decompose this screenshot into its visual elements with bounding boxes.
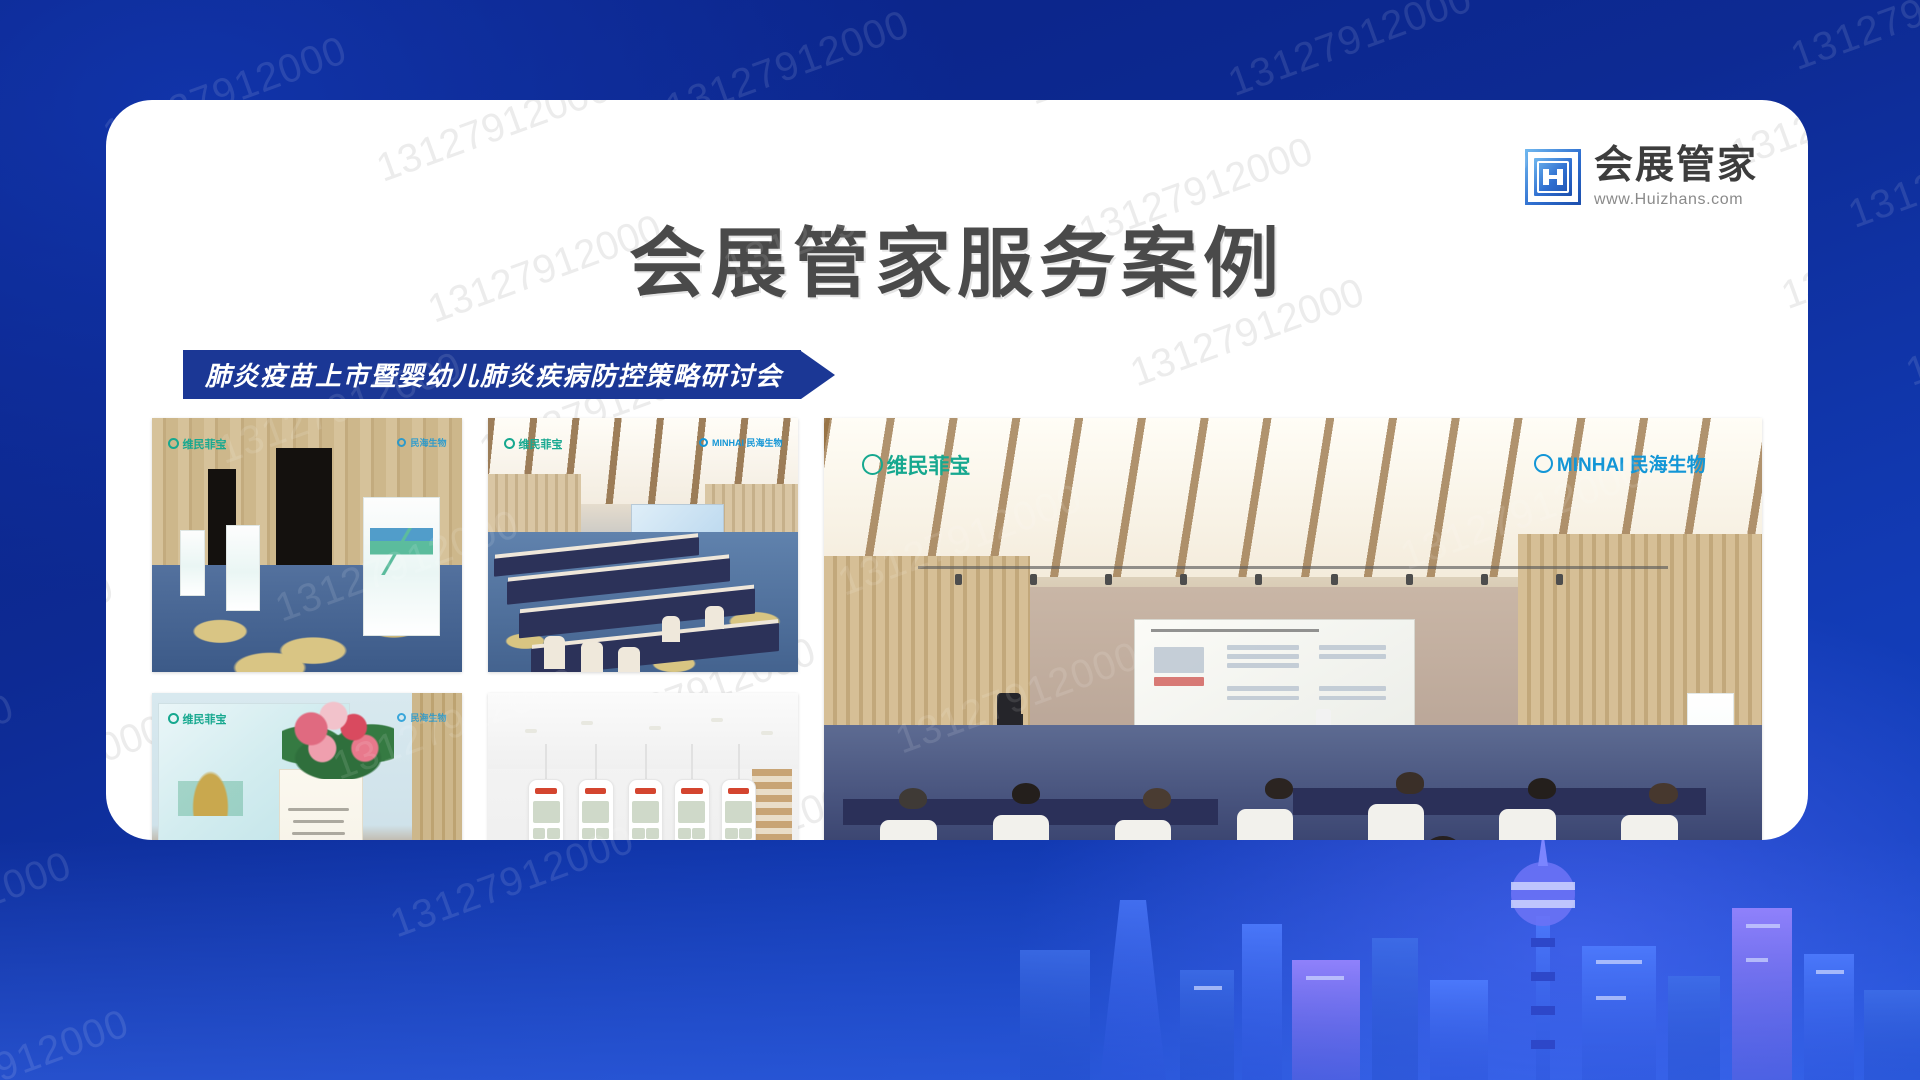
chair bbox=[705, 606, 724, 629]
event-banner-body: 肺炎疫苗上市暨婴幼儿肺炎疾病防控策略研讨会 bbox=[183, 350, 801, 399]
board-title bbox=[728, 788, 750, 794]
event-banner: 肺炎疫苗上市暨婴幼儿肺炎疾病防控策略研讨会 bbox=[183, 350, 835, 399]
overlay-logo-weiminfeibao: 维民菲宝 bbox=[862, 450, 971, 480]
event-banner-label: 肺炎疫苗上市暨婴幼儿肺炎疾病防控策略研讨会 bbox=[205, 356, 783, 393]
photo-conference-session[interactable]: 维民菲宝 MINHAI 民海生物 bbox=[824, 418, 1762, 840]
board-image bbox=[533, 801, 560, 823]
overlay-logo-text: 维民菲宝 bbox=[183, 711, 227, 727]
spotlight-icon bbox=[1030, 574, 1037, 585]
board-title bbox=[635, 788, 657, 794]
logo-dot-icon bbox=[862, 454, 883, 475]
audience-chair bbox=[1368, 804, 1424, 840]
spotlight-icon bbox=[1556, 574, 1563, 585]
slide-table-row bbox=[1227, 663, 1300, 668]
ceiling-light-icon bbox=[711, 718, 723, 722]
logo-dot-icon bbox=[168, 438, 179, 449]
slide-table-row bbox=[1319, 696, 1386, 701]
logo-dot-icon bbox=[699, 438, 708, 447]
slide-table-row bbox=[1227, 645, 1300, 650]
audience-person bbox=[1143, 788, 1171, 809]
spotlight-icon bbox=[1406, 574, 1413, 585]
standee-text-line bbox=[288, 808, 348, 811]
logo-dot-icon bbox=[397, 438, 406, 447]
overlay-logo-weiminfeibao: 维民菲宝 bbox=[168, 436, 227, 452]
logo-dot-icon bbox=[397, 713, 406, 722]
spotlight-icon bbox=[955, 574, 962, 585]
projection-screen bbox=[1134, 619, 1415, 735]
slide-image bbox=[1154, 677, 1204, 686]
slide-table-row bbox=[1319, 645, 1386, 650]
ceiling-light-icon bbox=[525, 729, 537, 733]
board-image bbox=[692, 828, 705, 840]
board-title bbox=[535, 788, 557, 794]
huizhans-logo-mark-icon bbox=[1525, 149, 1581, 205]
skyline-svg bbox=[1020, 820, 1920, 1080]
audience-person bbox=[1265, 778, 1293, 799]
overlay-logo-weiminfeibao: 维民菲宝 bbox=[504, 436, 563, 452]
audience-chair bbox=[1499, 809, 1555, 840]
standee-text-line bbox=[292, 832, 346, 835]
audience-person bbox=[1012, 783, 1040, 804]
audience-chair bbox=[880, 820, 936, 840]
overlay-logo-minhai: MINHAI 民海生物 bbox=[699, 436, 783, 449]
overlay-logo-text: 维民菲宝 bbox=[887, 450, 971, 480]
rollup-banner bbox=[226, 525, 260, 611]
slide-table-row bbox=[1227, 696, 1300, 701]
board-image bbox=[582, 801, 609, 823]
overlay-logo-text: MINHAI 民海生物 bbox=[1557, 450, 1706, 477]
overlay-logo-minhai: MINHAI 民海生物 bbox=[1534, 450, 1706, 477]
rollup-banner-main bbox=[363, 497, 441, 637]
content-card: 1312791200013127912000131279120001312791… bbox=[106, 100, 1808, 840]
chair bbox=[662, 616, 681, 641]
brand-name: 会展管家 bbox=[1594, 146, 1758, 185]
rollup-banner bbox=[180, 530, 205, 596]
exhibit-board bbox=[628, 779, 664, 840]
board-image bbox=[582, 828, 595, 840]
brand-logo[interactable]: 会展管家 www.Huizhans.com bbox=[1525, 146, 1758, 208]
overlay-logo-text: 民海生物 bbox=[410, 711, 446, 724]
logo-dot-icon bbox=[504, 438, 515, 449]
board-image bbox=[725, 801, 752, 823]
slide-table-row bbox=[1227, 686, 1300, 691]
board-image bbox=[632, 828, 645, 840]
photo-exhibition-boards[interactable] bbox=[488, 693, 798, 840]
overlay-logo-text: 维民菲宝 bbox=[519, 436, 563, 452]
overlay-logo-weiminfeibao: 维民菲宝 bbox=[168, 711, 227, 727]
overlay-logo-text: 民海生物 bbox=[410, 436, 446, 449]
photo-stage-standee[interactable]: 维民菲宝 民海生物 bbox=[152, 693, 462, 840]
chair bbox=[544, 636, 566, 669]
door bbox=[276, 448, 332, 570]
board-image bbox=[725, 828, 738, 840]
event-banner-arrow-icon bbox=[801, 351, 835, 399]
logo-dot-icon bbox=[1534, 454, 1553, 473]
exhibit-board bbox=[578, 779, 614, 840]
city-skyline-decoration bbox=[0, 820, 1920, 1080]
audience-table bbox=[1293, 788, 1706, 814]
page-title: 会展管家服务案例 bbox=[106, 202, 1808, 312]
ceiling-light-icon bbox=[581, 721, 593, 725]
audience-person bbox=[1396, 772, 1424, 793]
board-image bbox=[646, 828, 659, 840]
overlay-logo-text: MINHAI 民海生物 bbox=[712, 436, 783, 449]
product-shelf bbox=[752, 769, 792, 840]
lighting-truss bbox=[918, 566, 1668, 569]
board-image bbox=[739, 828, 752, 840]
board-image bbox=[533, 828, 546, 840]
board-title bbox=[681, 788, 703, 794]
audience-chair bbox=[993, 815, 1049, 840]
slide-title bbox=[1151, 629, 1319, 632]
board-image bbox=[547, 828, 560, 840]
audience-chair bbox=[1621, 815, 1677, 840]
spotlight-icon bbox=[1180, 574, 1187, 585]
exhibit-board bbox=[528, 779, 564, 840]
slide-table-row bbox=[1319, 654, 1386, 659]
board-image bbox=[678, 801, 705, 823]
board-image bbox=[678, 828, 691, 840]
audience-person bbox=[1528, 778, 1556, 799]
board-image bbox=[632, 801, 659, 823]
audience-chair bbox=[1115, 820, 1171, 840]
audience-person bbox=[899, 788, 927, 809]
photo-empty-conference-hall[interactable]: 维民菲宝 MINHAI 民海生物 bbox=[488, 418, 798, 672]
board-image bbox=[596, 828, 609, 840]
standee-banner bbox=[279, 769, 363, 840]
audience-person bbox=[1649, 783, 1677, 804]
slide-image bbox=[1154, 647, 1204, 672]
photo-gallery: 维民菲宝 民海生物 bbox=[152, 418, 1762, 840]
logo-dot-icon bbox=[168, 713, 179, 724]
chair bbox=[581, 642, 603, 672]
exhibit-board bbox=[721, 779, 757, 840]
ceiling-light-icon bbox=[649, 726, 661, 730]
ceiling-light-icon bbox=[761, 731, 773, 735]
slide-table-row bbox=[1319, 686, 1386, 691]
board-title bbox=[585, 788, 607, 794]
audience-chair bbox=[1237, 809, 1293, 840]
spotlight-icon bbox=[1105, 574, 1112, 585]
spotlight-icon bbox=[1481, 574, 1488, 585]
spotlight-icon bbox=[1255, 574, 1262, 585]
spotlight-icon bbox=[1331, 574, 1338, 585]
overlay-logo-minhai: 民海生物 bbox=[397, 436, 446, 449]
exhibit-board bbox=[674, 779, 710, 840]
standee-text-line bbox=[293, 820, 344, 823]
overlay-logo-text: 维民菲宝 bbox=[183, 436, 227, 452]
overlay-logo-minhai: 民海生物 bbox=[397, 711, 446, 724]
slide-table-row bbox=[1227, 654, 1300, 659]
flower-arrangement bbox=[282, 698, 394, 779]
photo-venue-entrance[interactable]: 维民菲宝 民海生物 bbox=[152, 418, 462, 672]
chair bbox=[618, 647, 640, 672]
